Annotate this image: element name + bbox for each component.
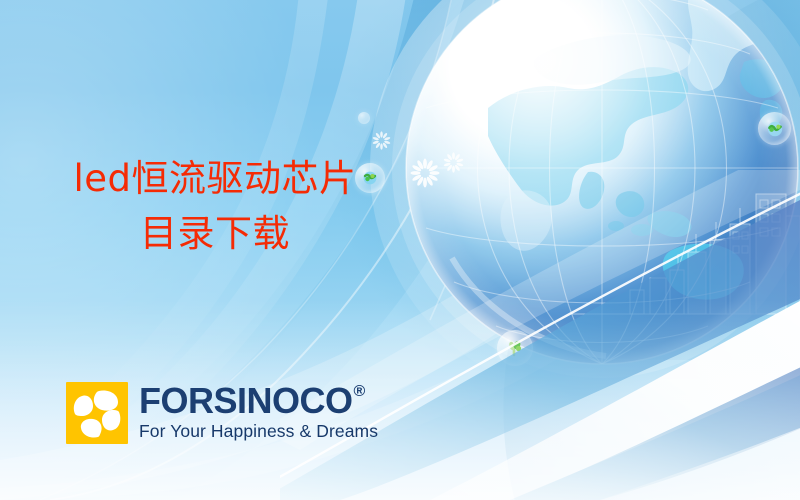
- mini-globe-icon: [766, 120, 784, 138]
- bubble-with-globe-icon: [758, 112, 791, 145]
- pinwheel-petals: [66, 382, 128, 444]
- white-daisy-icon: [443, 152, 464, 173]
- white-daisy-icon: [372, 131, 391, 150]
- globe-graphic: [392, 0, 800, 378]
- page-title: led恒流驱动芯片 目录下载: [0, 160, 430, 254]
- bubble-small-icon: [358, 112, 370, 124]
- company-logo: FORSINOCO ® For Your Happiness & Dreams: [66, 382, 378, 444]
- registered-trademark-symbol: ®: [354, 384, 365, 400]
- leaf-sprout-icon: [505, 338, 525, 358]
- bubble-with-leaf-icon: [497, 330, 533, 366]
- four-petal-pinwheel-icon: [66, 382, 128, 444]
- title-line-1: led恒流驱动芯片: [0, 160, 430, 199]
- logo-wordmark-text: FORSINOCO: [139, 383, 353, 419]
- slide-canvas: led恒流驱动芯片 目录下载 FORSINOCO ® For Your Happ…: [0, 0, 800, 500]
- logo-tagline: For Your Happiness & Dreams: [139, 421, 378, 441]
- logo-text-block: FORSINOCO ® For Your Happiness & Dreams: [139, 382, 378, 441]
- title-line-2: 目录下载: [0, 215, 430, 254]
- logo-wordmark: FORSINOCO ®: [139, 383, 378, 419]
